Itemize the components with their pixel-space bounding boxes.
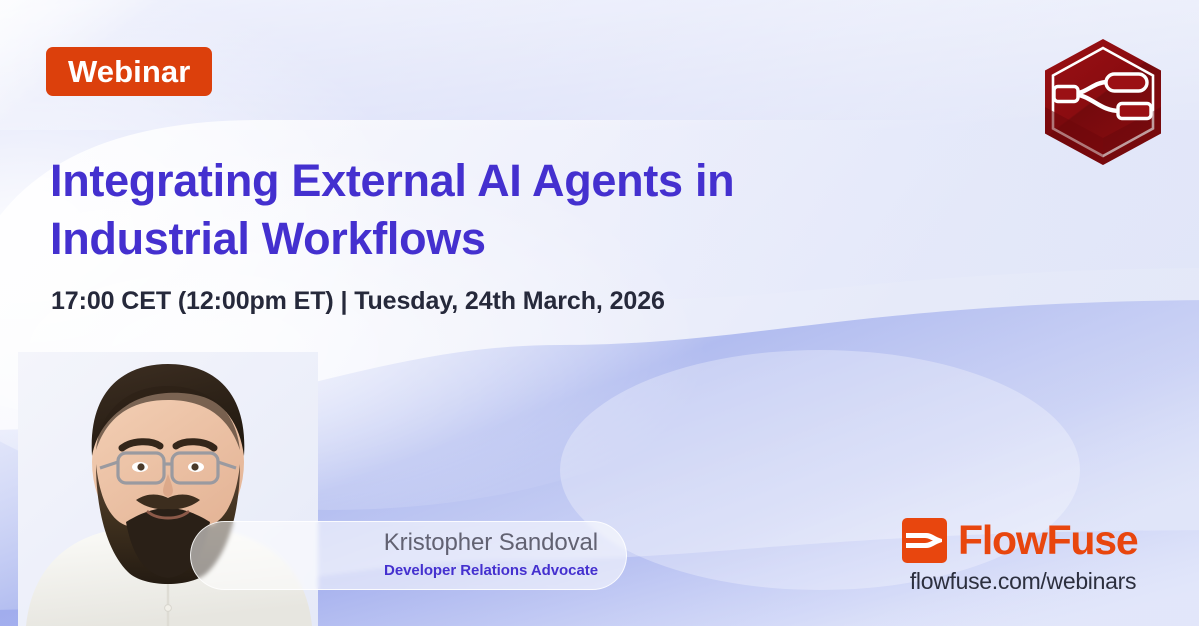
webinar-badge: Webinar [46,47,212,96]
node-block-bottom-right [1118,104,1151,119]
flowfuse-url: flowfuse.com/webinars [902,568,1144,595]
node-red-hexagon-icon [1036,35,1170,169]
event-datetime: 17:00 CET (12:00pm ET) | Tuesday, 24th M… [51,287,665,316]
pupil-right [191,463,198,470]
node-block-left [1054,87,1078,102]
page-title-line-2: Industrial Workflows [50,210,810,268]
page-title-line-1: Integrating External AI Agents in [50,152,810,210]
flowfuse-logo-icon [902,518,947,563]
shirt-button [165,605,172,612]
flowfuse-branding: FlowFuse flowfuse.com/webinars [902,518,1144,595]
pupil-left [137,463,144,470]
page-title: Integrating External AI Agents in Indust… [50,152,810,267]
speaker-role: Developer Relations Advocate [384,560,598,581]
node-block-top-right [1106,74,1147,91]
speaker-info-card: Kristopher Sandoval Developer Relations … [190,521,627,590]
flowfuse-logo-row: FlowFuse [902,518,1144,562]
flowfuse-wordmark: FlowFuse [958,520,1137,561]
webinar-badge-label: Webinar [68,56,190,87]
speaker-name: Kristopher Sandoval [384,530,598,556]
webinar-banner: Webinar Integrating External AI Agents i… [0,0,1199,626]
